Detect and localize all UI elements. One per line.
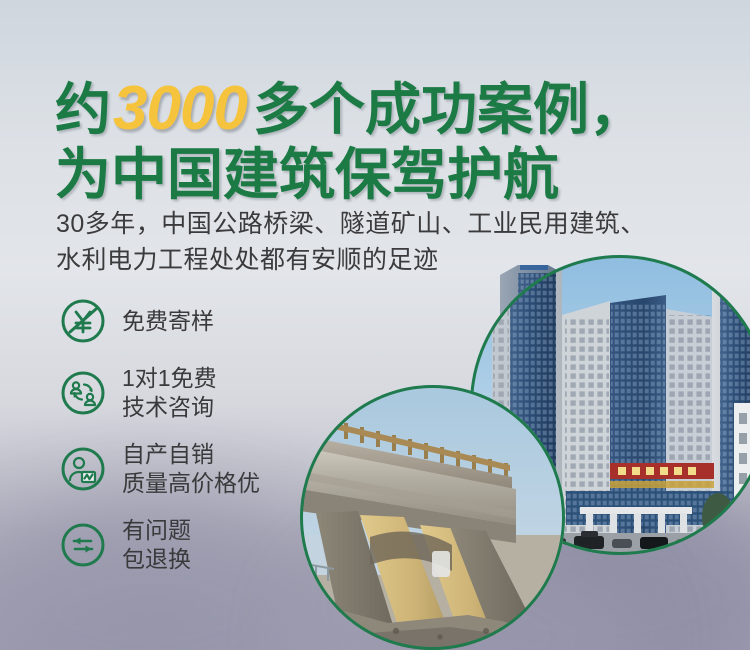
subtitle: 30多年，中国公路桥梁、隧道矿山、工业民用建筑、 水利电力工程处处都有安顺的足迹 <box>56 206 646 278</box>
headline-suffix: 多个成功案例， <box>253 78 645 141</box>
subtitle-line-1: 30多年，中国公路桥梁、隧道矿山、工业民用建筑、 <box>56 206 646 242</box>
feature-item-self-production: 自产自销 质量高价格优 <box>58 440 260 498</box>
bridge-photo <box>300 385 565 650</box>
subtitle-line-2: 水利电力工程处处都有安顺的足迹 <box>56 242 646 278</box>
headline-line-2: 为中国建筑保驾护航 <box>55 143 645 207</box>
headline-prefix: 约 <box>55 78 111 141</box>
headline-number: 3000 <box>111 74 253 143</box>
no-fee-yen-icon <box>58 296 108 346</box>
feature-label-consulting: 1对1免费 技术咨询 <box>122 364 217 422</box>
feature-label-free-sample: 免费寄样 <box>122 307 214 336</box>
promo-banner: 约3000多个成功案例， 为中国建筑保驾护航 30多年，中国公路桥梁、隧道矿山、… <box>0 0 750 650</box>
two-people-exchange-icon <box>58 368 108 418</box>
person-chart-icon <box>58 444 108 494</box>
feature-label-returns: 有问题 包退换 <box>122 516 191 574</box>
headline-line-1: 约3000多个成功案例， <box>55 78 645 141</box>
feature-item-consulting: 1对1免费 技术咨询 <box>58 364 260 422</box>
two-way-arrows-icon <box>58 520 108 570</box>
headline: 约3000多个成功案例， 为中国建筑保驾护航 <box>55 78 645 207</box>
feature-label-self-production: 自产自销 质量高价格优 <box>122 440 260 498</box>
feature-item-free-sample: 免费寄样 <box>58 296 260 346</box>
feature-list: 免费寄样 <box>58 296 260 592</box>
feature-item-returns: 有问题 包退换 <box>58 516 260 574</box>
